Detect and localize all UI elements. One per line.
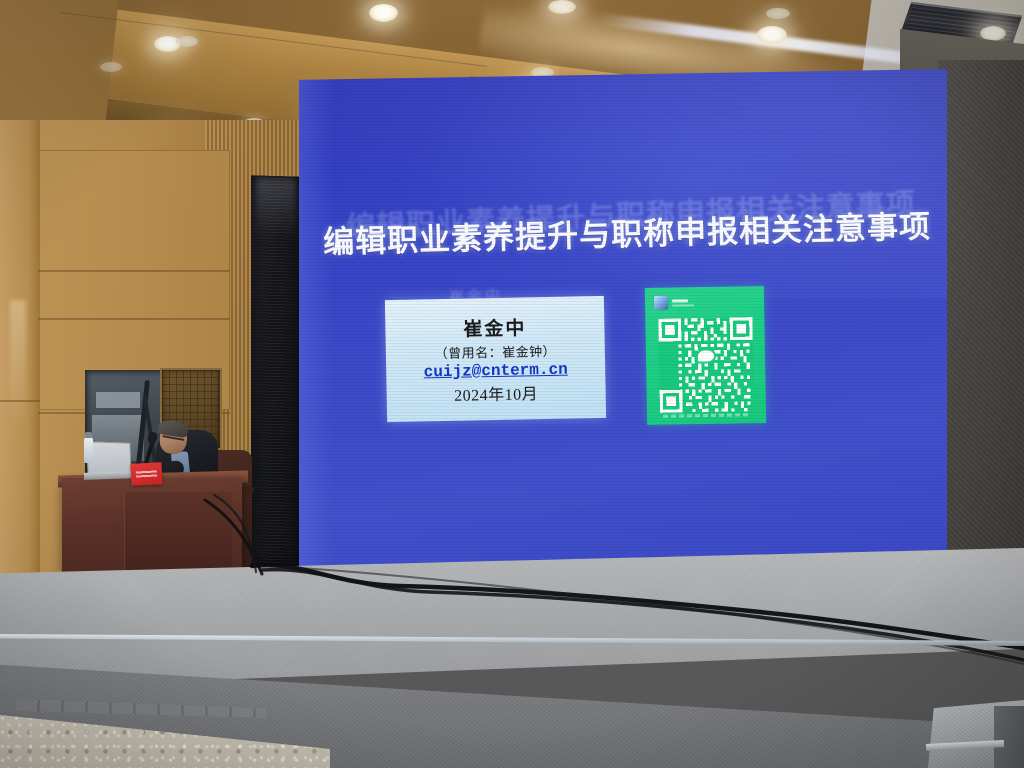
screen-edge-glow	[299, 69, 333, 566]
bottle-cap	[85, 432, 92, 438]
wechat-logo-icon	[697, 350, 713, 361]
water-bottle	[84, 437, 93, 463]
wall-seam	[0, 400, 40, 402]
avatar	[654, 296, 668, 310]
right-acoustic-wall	[938, 60, 1024, 625]
presenter-alias: （曾用名：崔金钟）	[434, 340, 556, 361]
slide-title: 编辑职业素养提升与职称申报相关注意事项	[323, 201, 928, 262]
screen-glare	[299, 69, 947, 298]
desk-front-panel	[124, 492, 232, 577]
alcove-equipment	[96, 392, 140, 408]
conference-hall-photo: 编辑职业素养提升与职称申报相关注意事项 编辑职业素养提升与职称申报相关注意事项 …	[0, 0, 1024, 768]
presentation-date: 2024年10月	[454, 380, 538, 406]
wechat-qr-card[interactable]	[645, 286, 766, 425]
ceiling-spotlight	[548, 0, 576, 14]
wall-seam	[38, 270, 230, 272]
presenter-info-box: 崔金中 （曾用名：崔金钟） cuijz@cnterm.cn 2024年10月	[385, 296, 606, 422]
red-booklet	[130, 462, 162, 486]
ceiling-spotlight	[757, 26, 787, 44]
ceiling-spotlight	[369, 4, 398, 22]
presenter-name: 崔金中	[463, 313, 527, 341]
metal-step-riser	[994, 706, 1024, 768]
pillar-highlight	[10, 300, 26, 430]
qr-card-header-text	[672, 299, 694, 306]
presenter-email-link[interactable]: cuijz@cnterm.cn	[424, 360, 568, 381]
wall-seam	[38, 318, 230, 320]
qr-card-header	[654, 295, 694, 310]
qr-code-icon	[658, 317, 754, 413]
ceiling-spotlight	[100, 62, 122, 72]
ceiling-spotlight	[176, 36, 198, 47]
ceiling-spotlight	[766, 8, 790, 19]
qr-card-footer-text	[663, 413, 751, 418]
led-presentation-screen[interactable]: 编辑职业素养提升与职称申报相关注意事项 编辑职业素养提升与职称申报相关注意事项 …	[299, 69, 947, 566]
led-panel-glare	[256, 177, 296, 238]
